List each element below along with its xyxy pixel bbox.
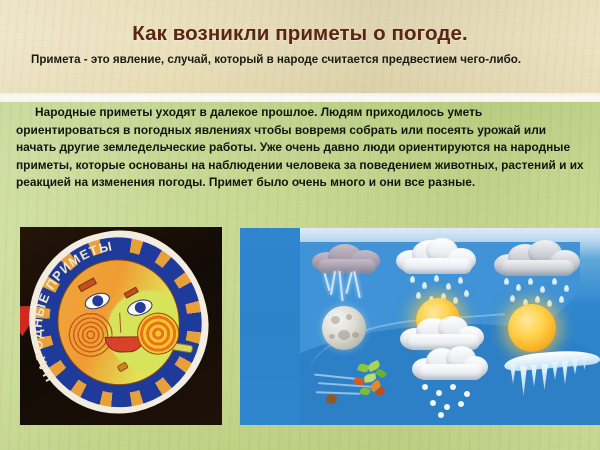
slide-background-top [0,0,600,95]
slide-lead-paragraph: Примета - это явление, случай, который в… [14,52,592,68]
snow-cloud-icon [412,346,492,414]
moon-icon [322,306,370,354]
wind-leaves-icon [314,360,406,412]
rain-cloud-icon [396,238,480,306]
mask-arc-caption: НАРОДНЫЕ ПРИМЕТЫ [20,227,222,425]
heavy-rain-cloud-icon [494,240,582,308]
icicles-icon [504,350,600,408]
weather-sky-background [300,228,600,425]
sun-mask-photo: НАРОДНЫЕ ПРИМЕТЫ [20,227,222,425]
mask-arc-caption-text: НАРОДНЫЕ ПРИМЕТЫ [20,238,140,385]
slide-body-paragraph: Народные приметы уходят в далекое прошло… [16,104,588,192]
slide-title: Как возникли приметы о погоде. [0,22,600,46]
weather-icons-panel [240,228,600,425]
presentation-slide: Как возникли приметы о погоде. Примета -… [0,0,600,450]
sun-mask-artwork: НАРОДНЫЕ ПРИМЕТЫ [20,227,222,425]
thunderstorm-icon [310,244,384,306]
